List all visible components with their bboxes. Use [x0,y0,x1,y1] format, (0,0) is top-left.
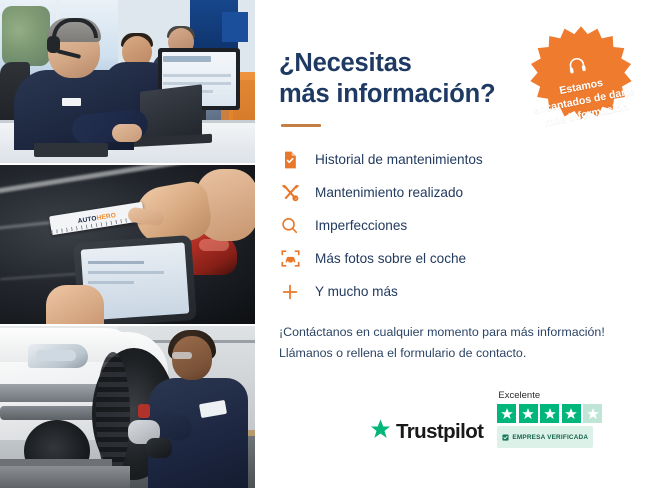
feature-label: Historial de mantenimientos [315,152,483,167]
photo-column: AUTOHERO [0,0,255,488]
badge-text: Estamos encantados de darte más informac… [529,72,639,132]
trustpilot-rating[interactable]: Trustpilot Excelente [369,390,602,448]
trustpilot-stars [497,404,602,423]
feature-label: Y mucho más [315,284,398,299]
feature-item-mucho-mas: Y mucho más [279,275,626,308]
wheel-tread [96,352,130,476]
badge-content: Estamos encantados de darte más informac… [509,12,650,161]
crossed-tools-icon [279,182,301,204]
trustpilot-logo[interactable]: Trustpilot [369,418,483,448]
trustpilot-rating-label: Excelente [498,390,540,401]
blue-wall-panel-2 [222,12,248,42]
verified-business-label: EMPRESA VERIFICADA [512,434,588,441]
info-promo-card: AUTOHERO [0,0,650,488]
trustpilot-star-4 [562,404,581,423]
tablet-text-line-3 [88,281,134,284]
feature-label: Imperfecciones [315,218,407,233]
car-lift-ramp [0,466,130,488]
feature-label: Más fotos sobre el coche [315,251,466,266]
car-inspection-ruler-photo: AUTOHERO [0,165,255,324]
checklist-document-icon [279,149,301,171]
mechanic-glove-right [146,438,172,458]
trustpilot-star-5 [583,404,602,423]
page-title-line-1: ¿Necesitas [279,49,412,77]
content-panel: ¿Necesitas más información? Historial de… [255,0,650,488]
contact-line-1: ¡Contáctanos en cualquier momento para m… [279,322,626,342]
feature-list: Historial de mantenimientos Mantenimient… [279,143,626,308]
verified-check-icon [502,428,509,446]
support-starburst-badge: Estamos encantados de darte más informac… [520,22,642,150]
car-headlight-inner [36,350,76,361]
title-underline-divider [281,124,321,127]
feature-label: Mantenimiento realizado [315,185,463,200]
agent-1-hand [112,124,142,142]
monitor-toolbar [163,56,211,62]
trustpilot-star-1 [497,404,516,423]
feature-item-fotos: Más fotos sobre el coche [279,242,626,275]
window-greenery [2,6,50,66]
car-lift-arm [0,459,112,466]
mechanic-wheel-photo [0,326,255,488]
car-grille-lower [0,406,96,420]
tablet-text-line-2 [88,271,164,274]
keyboard [34,143,108,157]
plus-icon [279,281,301,303]
tablet-text-line-1 [88,261,144,264]
hand-tool [138,404,150,418]
tablet-holding-hand [46,285,104,324]
trustpilot-star-icon [369,418,392,446]
safety-glasses-icon [172,352,192,359]
magnifier-icon [279,215,301,237]
agent-1-name-badge [62,98,81,106]
trustpilot-star-3 [540,404,559,423]
verified-business-badge: EMPRESA VERIFICADA [497,426,593,448]
trustpilot-wordmark: Trustpilot [396,420,483,444]
trustpilot-score-block: Excelente [497,390,602,448]
page-title-line-2: más información? [279,80,495,108]
headset-icon [565,54,589,82]
feature-item-imperfecciones: Imperfecciones [279,209,626,242]
call-center-agents-photo [0,0,255,163]
contact-line-2: Llámanos o rellena el formulario de cont… [279,343,626,363]
car-in-frame-icon [279,248,301,270]
feature-item-mantenimiento: Mantenimiento realizado [279,176,626,209]
monitor-row-1 [163,74,231,77]
contact-text: ¡Contáctanos en cualquier momento para m… [279,322,626,363]
trustpilot-star-2 [519,404,538,423]
